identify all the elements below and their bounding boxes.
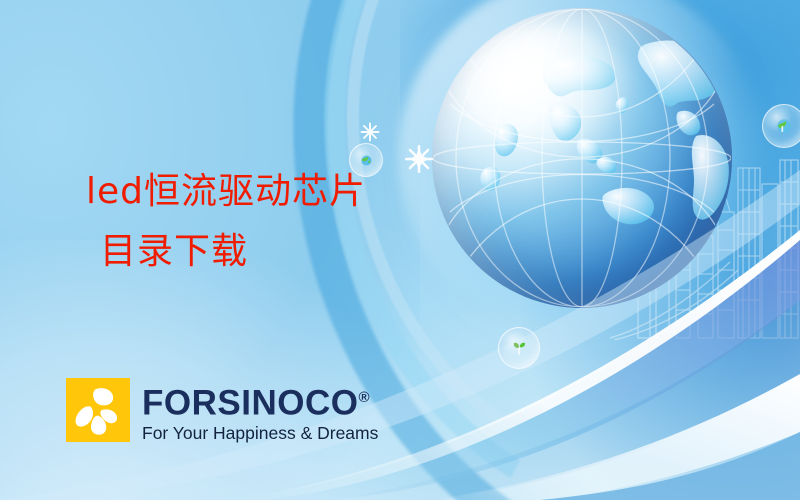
- four-petal-flower-glyph: [66, 378, 130, 442]
- background-wash-top-right: [400, 0, 800, 290]
- leaf-icon: [509, 338, 529, 358]
- promo-banner: led恒流驱动芯片 目录下载 FORSINOCO® For Your Happi…: [0, 0, 800, 500]
- sparkle-icon: [404, 144, 434, 174]
- logo-tagline: For Your Happiness & Dreams: [142, 423, 378, 444]
- four-petal-flower-icon: [66, 378, 130, 442]
- cityscape-icon: [610, 150, 800, 340]
- headline-line-2: 目录下载: [86, 222, 366, 282]
- globe-sphere: [432, 8, 732, 308]
- sparkle-icon: [360, 122, 380, 142]
- page-title: led恒流驱动芯片 目录下载: [86, 162, 366, 282]
- background-wash-right: [520, 120, 800, 500]
- globe-highlight: [468, 26, 636, 158]
- logo-wordmark-text: FORSINOCO: [142, 384, 358, 423]
- registered-trademark-icon: ®: [358, 389, 369, 406]
- bubble-leaf-icon: [498, 327, 540, 369]
- globe-icon: [774, 116, 794, 136]
- headline-line-1: led恒流驱动芯片: [86, 171, 366, 212]
- globe-icon: [432, 8, 732, 308]
- logo-wordmark: FORSINOCO®: [142, 381, 378, 420]
- logo-text-block: FORSINOCO® For Your Happiness & Dreams: [142, 378, 378, 444]
- globe-glow: [398, 0, 766, 342]
- brand-logo: FORSINOCO® For Your Happiness & Dreams: [66, 378, 378, 444]
- bubble-globe-icon: [762, 104, 800, 148]
- globe-graticule-and-continents: [432, 8, 732, 308]
